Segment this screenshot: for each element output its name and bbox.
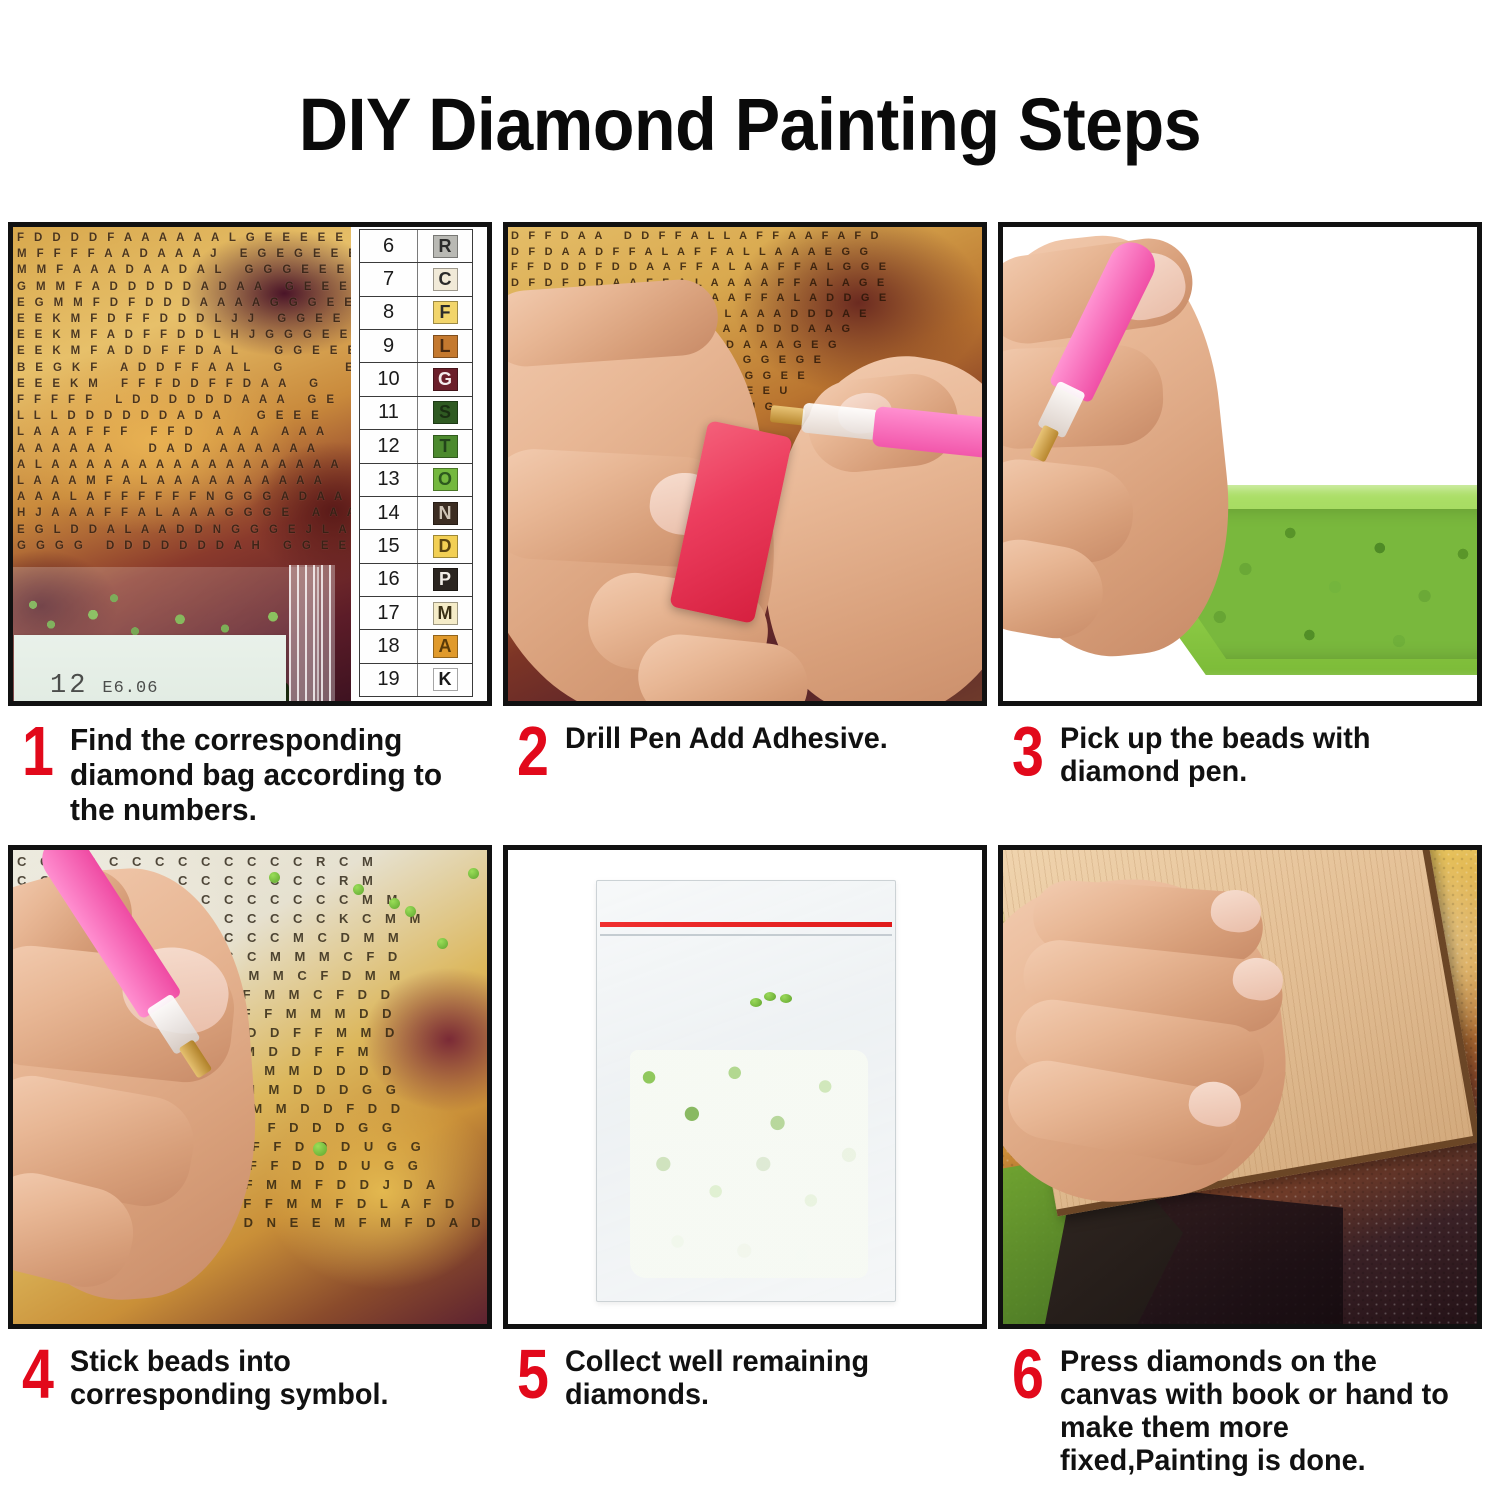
legend-symbol-swatch: N <box>433 502 458 525</box>
remaining-green-diamonds <box>630 1050 868 1278</box>
diamond-bag-and-legend-photo: F D D D D F A A A A A A L G E E E E E E … <box>8 222 492 706</box>
step-caption-3: 3 Pick up the beads with diamond pen. <box>998 720 1492 788</box>
legend-row-symbol: R <box>418 230 472 262</box>
pick-up-beads-photo <box>998 222 1482 706</box>
bag-zip-line <box>600 934 892 936</box>
placed-bead-a <box>269 872 280 883</box>
step-number-5: 5 <box>517 1343 550 1405</box>
legend-row-number: 12 <box>360 430 418 462</box>
diy-diamond-painting-steps-page: DIY Diamond Painting Steps F D D D D F A… <box>0 0 1500 1500</box>
placed-bead-b <box>353 884 364 895</box>
legend-row: 14N <box>360 497 472 530</box>
step-caption-4: 4 Stick beads into corresponding symbol. <box>8 1343 502 1411</box>
legend-row: 8F <box>360 297 472 330</box>
legend-row-number: 19 <box>360 664 418 696</box>
legend-row-number: 17 <box>360 597 418 629</box>
legend-row-number: 15 <box>360 530 418 562</box>
legend-symbol-swatch: P <box>433 568 458 591</box>
placed-bead-d <box>405 906 416 917</box>
legend-row: 18A <box>360 630 472 663</box>
legend-row: 11S <box>360 397 472 430</box>
step-text-2: Drill Pen Add Adhesive. <box>565 720 888 755</box>
colour-code-legend: 6R7C8F9L10G11S12T13O14N15D16P17M18A19K <box>351 227 487 701</box>
legend-row-number: 14 <box>360 497 418 529</box>
legend-symbol-swatch: O <box>433 468 458 491</box>
placed-bead-c <box>389 898 400 909</box>
legend-row-symbol: O <box>418 464 472 496</box>
legend-row-symbol: G <box>418 363 472 395</box>
pen-metal-tip-3 <box>1029 424 1059 462</box>
legend-row-symbol: M <box>418 597 472 629</box>
legend-row-number: 7 <box>360 263 418 295</box>
step-text-6: Press diamonds on the canvas with book o… <box>1060 1343 1475 1477</box>
legend-symbol-swatch: D <box>433 535 458 558</box>
legend-row-number: 9 <box>360 330 418 362</box>
legend-symbol-swatch: L <box>433 335 458 358</box>
legend-symbol-swatch: F <box>433 301 458 324</box>
legend-symbol-swatch: T <box>433 435 458 458</box>
legend-row: 7C <box>360 263 472 296</box>
step-text-1: Find the corresponding diamond bag accor… <box>70 720 485 827</box>
legend-row-symbol: C <box>418 263 472 295</box>
stray-bead-b <box>764 992 776 1001</box>
bag-seal-strip <box>289 565 335 701</box>
legend-symbol-swatch: S <box>433 401 458 424</box>
legend-row: 9L <box>360 330 472 363</box>
legend-row: 16P <box>360 564 472 597</box>
legend-row-symbol: K <box>418 664 472 696</box>
step-number-4: 4 <box>22 1343 55 1405</box>
bead-on-pen-tip <box>313 1142 327 1156</box>
legend-row: 17M <box>360 597 472 630</box>
step-card-2: D F F D A A D D F F A L L A F F A A F A … <box>503 222 997 827</box>
legend-row-number: 11 <box>360 397 418 429</box>
step-number-2: 2 <box>517 720 550 782</box>
steps-row-bottom: C C C C C C C C C C C C C R C M C C C C … <box>8 845 1492 1477</box>
legend-row-number: 8 <box>360 297 418 329</box>
bag-label-code: E6.06 <box>102 679 158 698</box>
bag-label: 12E6.06 <box>14 635 286 701</box>
legend-row: 13O <box>360 464 472 497</box>
legend-row-number: 13 <box>360 464 418 496</box>
legend-symbol-swatch: M <box>433 602 458 625</box>
step-number-1: 1 <box>22 720 55 782</box>
step-caption-5: 5 Collect well remaining diamonds. <box>503 1343 997 1411</box>
legend-row-symbol: S <box>418 397 472 429</box>
step-card-4: C C C C C C C C C C C C C R C M C C C C … <box>8 845 502 1477</box>
legend-row: 10G <box>360 363 472 396</box>
step-card-6: 6 Press diamonds on the canvas with book… <box>998 845 1492 1477</box>
legend-row-symbol: P <box>418 564 472 596</box>
step-text-3: Pick up the beads with diamond pen. <box>1060 720 1475 788</box>
collect-remaining-diamonds-photo <box>503 845 987 1329</box>
placed-bead-f <box>468 868 479 879</box>
bag-label-number: 12 <box>50 671 88 701</box>
legend-symbol-swatch: A <box>433 635 458 658</box>
pen-clear-section <box>801 402 880 440</box>
legend-row-symbol: T <box>418 430 472 462</box>
legend-row-symbol: L <box>418 330 472 362</box>
placed-bead-e <box>437 938 448 949</box>
legend-row: 15D <box>360 530 472 563</box>
legend-symbol-swatch: R <box>433 235 458 258</box>
press-diamonds-photo <box>998 845 1482 1329</box>
drill-pen-adhesive-photo: D F F D A A D D F F A L L A F F A A F A … <box>503 222 987 706</box>
legend-table: 6R7C8F9L10G11S12T13O14N15D16P17M18A19K <box>359 229 473 697</box>
steps-row-top: F D D D D F A A A A A A L G E E E E E E … <box>8 222 1492 827</box>
legend-symbol-swatch: C <box>433 268 458 291</box>
legend-row: 6R <box>360 230 472 263</box>
legend-row-symbol: A <box>418 630 472 662</box>
legend-row-number: 6 <box>360 230 418 262</box>
legend-row-number: 18 <box>360 630 418 662</box>
legend-symbol-swatch: K <box>433 668 458 691</box>
step-card-1: F D D D D F A A A A A A L G E E E E E E … <box>8 222 502 827</box>
step-text-5: Collect well remaining diamonds. <box>565 1343 980 1411</box>
step-caption-6: 6 Press diamonds on the canvas with book… <box>998 1343 1492 1477</box>
bag-label-text: 12E6.06 <box>50 671 158 701</box>
stray-bead-a <box>750 998 762 1007</box>
step-text-4: Stick beads into corresponding symbol. <box>70 1343 485 1411</box>
step-number-6: 6 <box>1012 1343 1045 1405</box>
legend-row: 12T <box>360 430 472 463</box>
bag-red-seal-strip <box>600 922 892 927</box>
step-card-3: 3 Pick up the beads with diamond pen. <box>998 222 1492 827</box>
legend-row-symbol: F <box>418 297 472 329</box>
legend-row-number: 16 <box>360 564 418 596</box>
legend-row: 19K <box>360 664 472 697</box>
legend-symbol-swatch: G <box>433 368 458 391</box>
step-caption-1: 1 Find the corresponding diamond bag acc… <box>8 720 502 827</box>
stick-beads-photo: C C C C C C C C C C C C C R C M C C C C … <box>8 845 492 1329</box>
stray-bead-c <box>780 994 792 1003</box>
legend-row-symbol: N <box>418 497 472 529</box>
page-title: DIY Diamond Painting Steps <box>60 86 1440 164</box>
step-caption-2: 2 Drill Pen Add Adhesive. <box>503 720 997 782</box>
legend-row-number: 10 <box>360 363 418 395</box>
steps-grid: F D D D D F A A A A A A L G E E E E E E … <box>8 222 1492 1477</box>
pen-metal-tip <box>770 405 806 425</box>
step-number-3: 3 <box>1012 720 1045 782</box>
pen-metal-tip-4 <box>178 1039 212 1078</box>
legend-row-symbol: D <box>418 530 472 562</box>
step-card-5: 5 Collect well remaining diamonds. <box>503 845 997 1477</box>
